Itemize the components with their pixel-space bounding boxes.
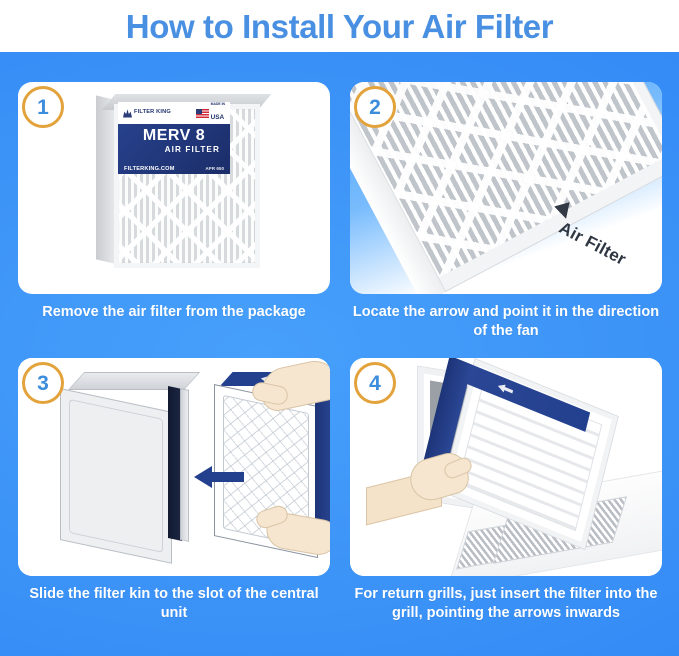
step-card-4: 4 For return grills, just insert the fil…: [350, 358, 662, 648]
step-3-scene: [18, 358, 330, 576]
step-2-scene: Air Filter: [350, 82, 662, 294]
arrow-shaft: [210, 472, 244, 482]
step-caption-3: Slide the filter kin to the slot of the …: [18, 585, 330, 622]
step-card-1: FILTER KING MADE IN USA: [18, 82, 330, 362]
filter-corner-photo: Air Filter: [350, 82, 662, 294]
step-number-badge-3: 3: [22, 362, 64, 404]
step-number-4: 4: [369, 373, 381, 394]
air-filter-product-image: FILTER KING MADE IN USA: [96, 94, 262, 270]
step-caption-4: For return grills, just insert the filte…: [350, 585, 662, 622]
step-number-badge-2: 2: [354, 86, 396, 128]
step-card-2: Air Filter 2 Locate the arrow and point …: [350, 82, 662, 362]
step-1-scene: FILTER KING MADE IN USA: [18, 82, 330, 294]
filter-side-face: [96, 95, 116, 264]
step-number-3: 3: [37, 373, 49, 394]
label-navy-panel: MERV 8 AIR FILTER FILTERKING.COM APR 650: [118, 124, 230, 174]
apr-rating: APR 650: [205, 166, 224, 172]
crown-icon: [123, 109, 132, 118]
filter-edge-text: Air Filter: [556, 218, 630, 270]
step-caption-2: Locate the arrow and point it in the dir…: [350, 303, 662, 340]
infographic-page: How to Install Your Air Filter: [0, 0, 679, 656]
page-title: How to Install Your Air Filter: [126, 10, 553, 43]
step-number-badge-1: 1: [22, 86, 64, 128]
central-unit-illustration: [60, 372, 192, 542]
merv-rating: MERV 8: [124, 128, 224, 145]
page-header: How to Install Your Air Filter: [0, 0, 679, 52]
brand-name: FILTER KING: [134, 110, 171, 116]
hand-upper: [252, 364, 330, 418]
hand-inserting-filter: [366, 450, 476, 516]
hand-lower: [256, 508, 330, 552]
unit-front-panel: [60, 388, 172, 564]
label-footer: FILTERKING.COM APR 650: [118, 166, 230, 172]
step-4-scene: [350, 358, 662, 576]
filter-label: FILTER KING MADE IN USA: [118, 102, 230, 174]
origin-text-block: MADE IN USA: [211, 102, 225, 124]
product-type: AIR FILTER: [124, 145, 224, 154]
step-4-image-card: 4: [350, 358, 662, 576]
step-2-image-card: Air Filter 2: [350, 82, 662, 294]
step-number-badge-4: 4: [354, 362, 396, 404]
unit-side-edge: [180, 388, 189, 542]
step-number-1: 1: [37, 97, 49, 118]
step-1-image-card: FILTER KING MADE IN USA: [18, 82, 330, 294]
step-card-3: 3 Slide the filter kin to the slot of th…: [18, 358, 330, 648]
label-header-strip: FILTER KING MADE IN USA: [118, 102, 230, 124]
origin-small-text: MADE IN: [211, 102, 225, 106]
step-number-2: 2: [369, 97, 381, 118]
brand-lockup: FILTER KING: [123, 109, 171, 118]
step-3-image-card: 3: [18, 358, 330, 576]
direction-arrow-icon: [194, 466, 244, 488]
arrow-head: [194, 466, 212, 488]
origin-country: USA: [211, 114, 225, 121]
made-in-usa-lockup: MADE IN USA: [196, 102, 225, 124]
step-caption-1: Remove the air filter from the package: [18, 303, 330, 322]
steps-grid: FILTER KING MADE IN USA: [0, 52, 679, 656]
usa-flag-icon: [196, 109, 209, 118]
brand-website: FILTERKING.COM: [124, 166, 175, 172]
